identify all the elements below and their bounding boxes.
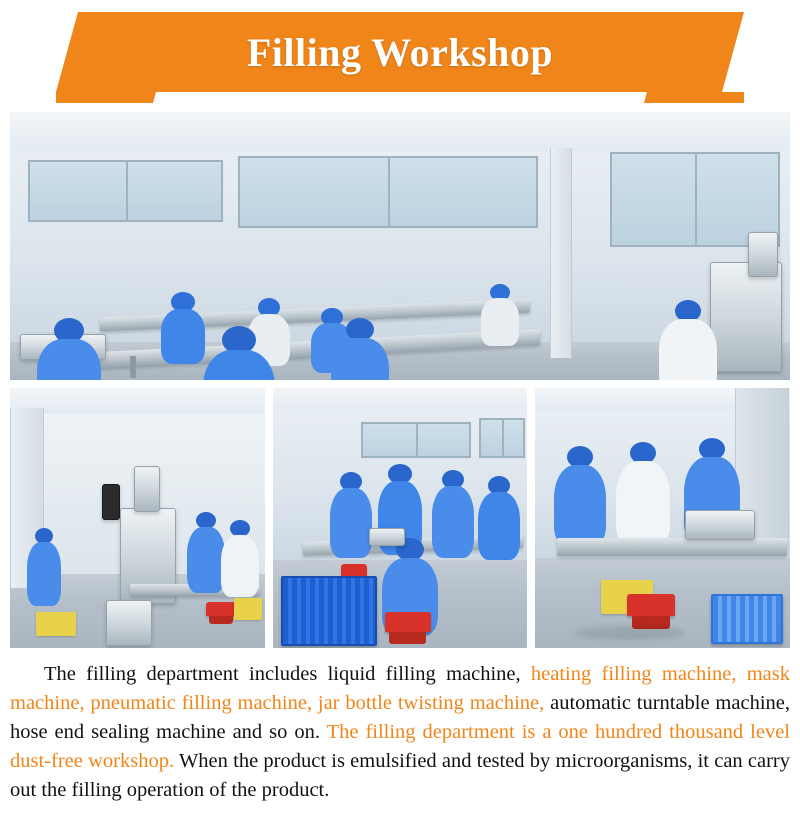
banner-underline-right bbox=[644, 92, 744, 103]
filling-workshop-photo-4 bbox=[535, 388, 790, 648]
filling-workshop-photo-2 bbox=[10, 388, 265, 648]
main-photo-scene bbox=[10, 112, 790, 380]
photo-3-scene bbox=[273, 388, 528, 648]
header-banner: Filling Workshop bbox=[0, 0, 800, 112]
page-title: Filling Workshop bbox=[56, 12, 744, 92]
photo-4-scene bbox=[535, 388, 790, 648]
filling-workshop-photo-3 bbox=[273, 388, 528, 648]
filling-workshop-main-photo bbox=[10, 112, 790, 380]
caption-segment-1: The filling department includes liquid f… bbox=[44, 663, 531, 685]
photo-2-scene bbox=[10, 388, 265, 648]
banner-underline-left bbox=[56, 92, 156, 103]
photo-gallery bbox=[10, 112, 790, 648]
caption-text: The filling department includes liquid f… bbox=[10, 660, 790, 806]
page-root: Filling Workshop bbox=[0, 0, 800, 840]
photo-row bbox=[10, 388, 790, 648]
